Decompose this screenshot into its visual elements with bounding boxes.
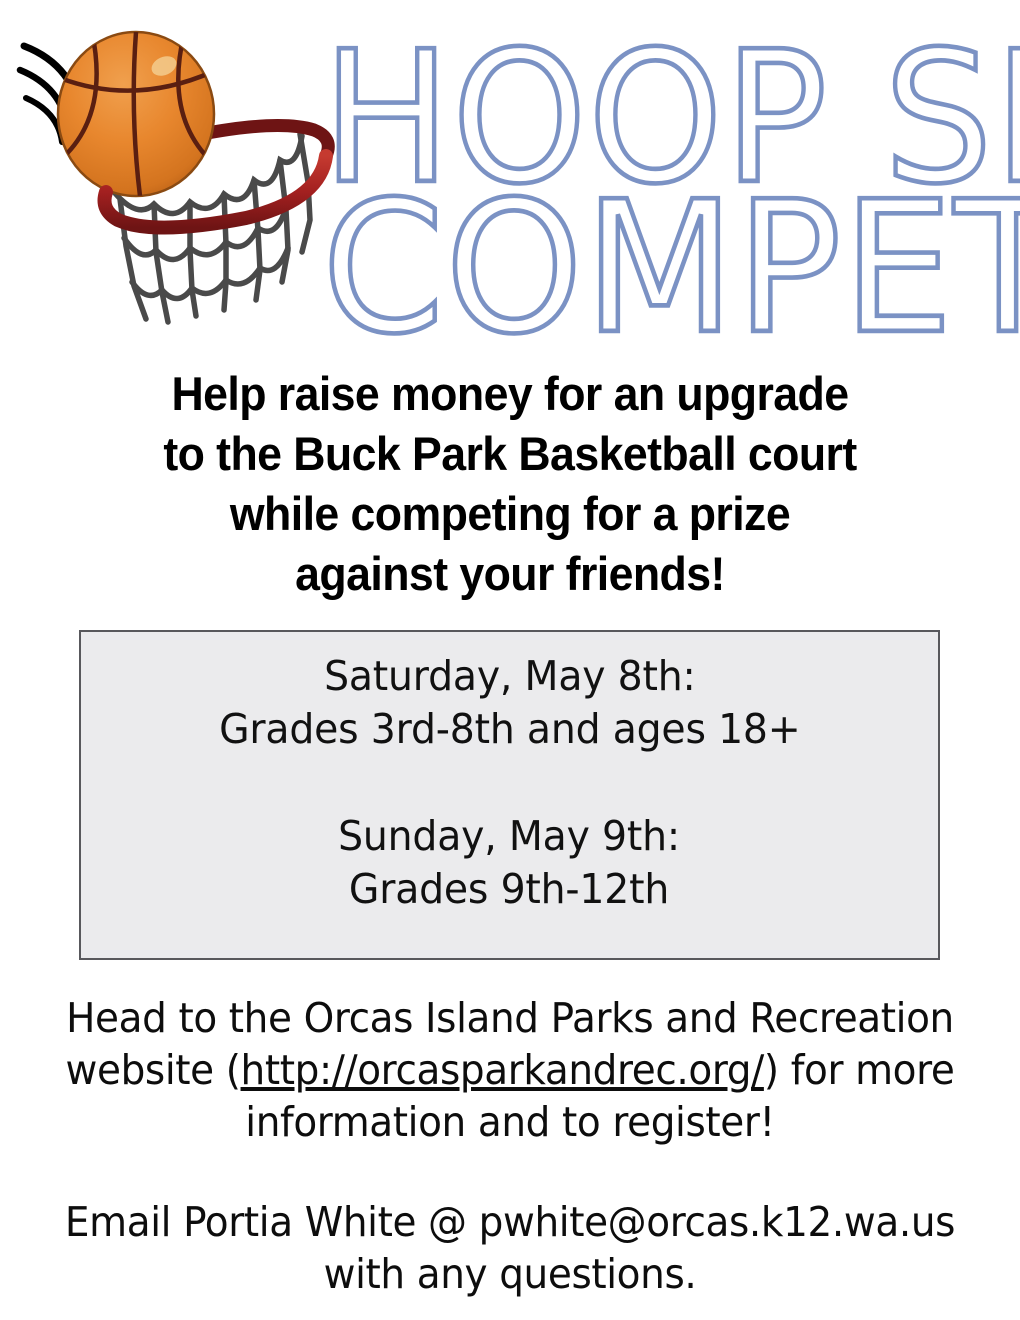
- pitch-line-4: against your friends!: [26, 544, 995, 604]
- email-info-line-1: Email Portia White @ pwhite@orcas.k12.wa…: [26, 1196, 995, 1248]
- flyer-header: HOOP SHOOT COMPETITION: [0, 0, 1020, 340]
- title-line-competition: COMPETITION: [322, 178, 1020, 360]
- pitch-line-1: Help raise money for an upgrade: [26, 364, 995, 424]
- flyer-title: HOOP SHOOT COMPETITION: [322, 28, 1012, 328]
- website-line-suffix: ) for more: [764, 1046, 955, 1094]
- website-info-line-1: Head to the Orcas Island Parks and Recre…: [26, 992, 995, 1044]
- schedule-group-sunday: Sunday, May 9th: Grades 9th-12th: [339, 810, 681, 916]
- email-info-line-2: with any questions.: [26, 1248, 995, 1300]
- website-info-paragraph: Head to the Orcas Island Parks and Recre…: [26, 992, 995, 1148]
- parks-and-rec-url-link[interactable]: http://orcasparkandrec.org/: [241, 1046, 764, 1094]
- schedule-date-sunday: Sunday, May 9th:: [339, 810, 681, 863]
- contact-email-address[interactable]: pwhite@orcas.k12.wa.us: [479, 1198, 955, 1246]
- website-info-line-2: website (http://orcasparkandrec.org/) fo…: [26, 1044, 995, 1096]
- email-info-paragraph: Email Portia White @ pwhite@orcas.k12.wa…: [26, 1196, 995, 1300]
- schedule-box: Saturday, May 8th: Grades 3rd-8th and ag…: [79, 630, 940, 960]
- flyer-page: HOOP SHOOT COMPETITION Help raise money …: [0, 0, 1020, 1320]
- schedule-eligibility-sunday: Grades 9th-12th: [339, 863, 681, 916]
- schedule-date-saturday: Saturday, May 8th:: [219, 650, 800, 703]
- email-line-prefix: Email Portia White @: [65, 1198, 479, 1246]
- pitch-line-3: while competing for a prize: [26, 484, 995, 544]
- pitch-heading: Help raise money for an upgrade to the B…: [26, 364, 995, 604]
- website-info-line-3: information and to register!: [26, 1096, 995, 1148]
- basketball-icon: [58, 32, 214, 196]
- basketball-and-hoop-icon: [14, 14, 344, 334]
- pitch-line-2: to the Buck Park Basketball court: [26, 424, 995, 484]
- schedule-eligibility-saturday: Grades 3rd-8th and ages 18+: [219, 703, 800, 756]
- website-line-prefix: website (: [66, 1046, 241, 1094]
- schedule-group-saturday: Saturday, May 8th: Grades 3rd-8th and ag…: [219, 650, 800, 756]
